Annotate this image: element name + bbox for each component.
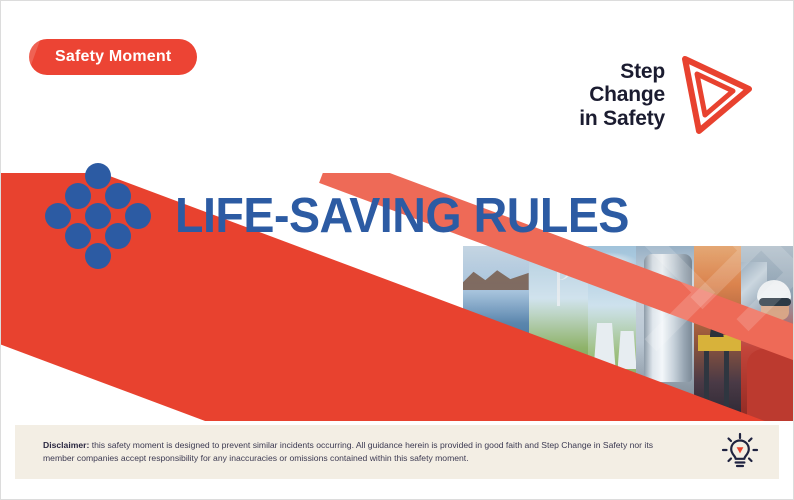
disclaimer-label: Disclaimer: bbox=[43, 440, 89, 450]
white-content-mask bbox=[1, 1, 561, 173]
play-triangle-icon bbox=[675, 53, 757, 137]
logo-wordmark: Step Change in Safety bbox=[579, 60, 665, 131]
page-title: LIFE-SAVING RULES bbox=[175, 188, 629, 244]
dot bbox=[85, 243, 111, 269]
dot bbox=[85, 203, 111, 229]
dot bbox=[45, 203, 71, 229]
disclaimer-bar: Disclaimer: this safety moment is design… bbox=[15, 425, 779, 479]
diamond-dot-grid-icon bbox=[45, 163, 151, 269]
logo-line-1: Step bbox=[579, 60, 665, 84]
lightbulb-idea-icon bbox=[720, 432, 760, 472]
title-block: LIFE-SAVING RULES bbox=[45, 163, 653, 269]
safety-moment-badge-label: Safety Moment bbox=[55, 48, 171, 65]
dot bbox=[105, 183, 131, 209]
disclaimer-body: this safety moment is designed to preven… bbox=[43, 440, 653, 463]
step-change-in-safety-logo: Step Change in Safety bbox=[579, 53, 757, 137]
logo-line-3: in Safety bbox=[579, 107, 665, 131]
safety-moment-slide: H2 bbox=[0, 0, 794, 500]
dot bbox=[105, 223, 131, 249]
artwork-area: H2 bbox=[1, 1, 793, 421]
logo-line-2: Change bbox=[579, 83, 665, 107]
dot bbox=[125, 203, 151, 229]
safety-moment-badge[interactable]: Safety Moment bbox=[29, 39, 197, 75]
dot bbox=[65, 183, 91, 209]
disclaimer-text: Disclaimer: this safety moment is design… bbox=[15, 439, 701, 466]
lightbulb-icon-wrap bbox=[701, 432, 779, 472]
dot bbox=[85, 163, 111, 189]
dot bbox=[65, 223, 91, 249]
